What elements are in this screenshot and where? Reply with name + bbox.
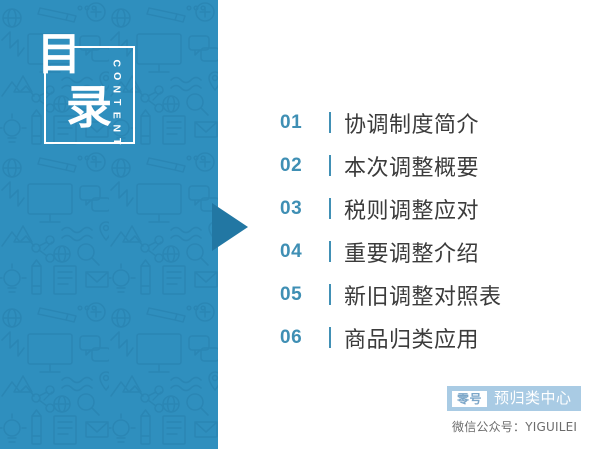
brand-badge: 零号 预归类中心 (447, 386, 581, 411)
agenda-separator (316, 198, 344, 219)
agenda-number: 03 (280, 198, 316, 220)
content-letter: T (110, 99, 121, 106)
brand-name-label: 预归类中心 (494, 391, 572, 406)
title-character-lu: 录 (66, 84, 112, 130)
agenda-separator (316, 284, 344, 305)
agenda-label: 商品归类应用 (344, 322, 479, 354)
left-blue-panel: 目 录 C O N T E N T (0, 0, 218, 449)
title-character-mu: 目 (37, 33, 81, 77)
agenda-number: 01 (280, 112, 316, 134)
agenda-label: 新旧调整对照表 (344, 279, 502, 311)
agenda-number: 06 (280, 327, 316, 349)
agenda-separator (316, 327, 344, 348)
content-letter: C (111, 59, 122, 67)
agenda-label: 重要调整介绍 (344, 236, 479, 268)
agenda-label: 本次调整概要 (344, 150, 479, 182)
agenda-item-01[interactable]: 01 协调制度简介 (280, 101, 580, 144)
brand-chip-label: 零号 (452, 391, 487, 407)
agenda-item-03[interactable]: 03 税则调整应对 (280, 187, 580, 230)
content-letter: T (110, 138, 121, 145)
agenda-label: 协调制度简介 (344, 107, 479, 139)
agenda-separator (316, 112, 344, 133)
wechat-account-label: 微信公众号：YIGUILEI (452, 418, 577, 435)
agenda-number: 04 (280, 241, 316, 263)
agenda-number: 05 (280, 284, 316, 306)
content-letter: E (110, 112, 121, 120)
agenda-item-05[interactable]: 05 新旧调整对照表 (280, 273, 580, 316)
content-letter: N (111, 124, 122, 132)
agenda-item-04[interactable]: 04 重要调整介绍 (280, 230, 580, 273)
content-letter: O (110, 72, 121, 81)
agenda-number: 02 (280, 155, 316, 177)
title-subtitle-content: C O N T E N T (108, 58, 124, 149)
agenda-list: 01 协调制度简介 02 本次调整概要 03 税则调整应对 04 重要调整介绍 … (280, 101, 580, 359)
arrow-right-icon (212, 203, 252, 251)
content-letter: N (111, 85, 122, 93)
agenda-separator (316, 155, 344, 176)
agenda-separator (316, 241, 344, 262)
agenda-item-06[interactable]: 06 商品归类应用 (280, 316, 580, 359)
agenda-label: 税则调整应对 (344, 193, 479, 225)
agenda-item-02[interactable]: 02 本次调整概要 (280, 144, 580, 187)
content-slide: 目 录 C O N T E N T 01 协调制度简介 02 本次调整概要 03 (0, 0, 600, 449)
